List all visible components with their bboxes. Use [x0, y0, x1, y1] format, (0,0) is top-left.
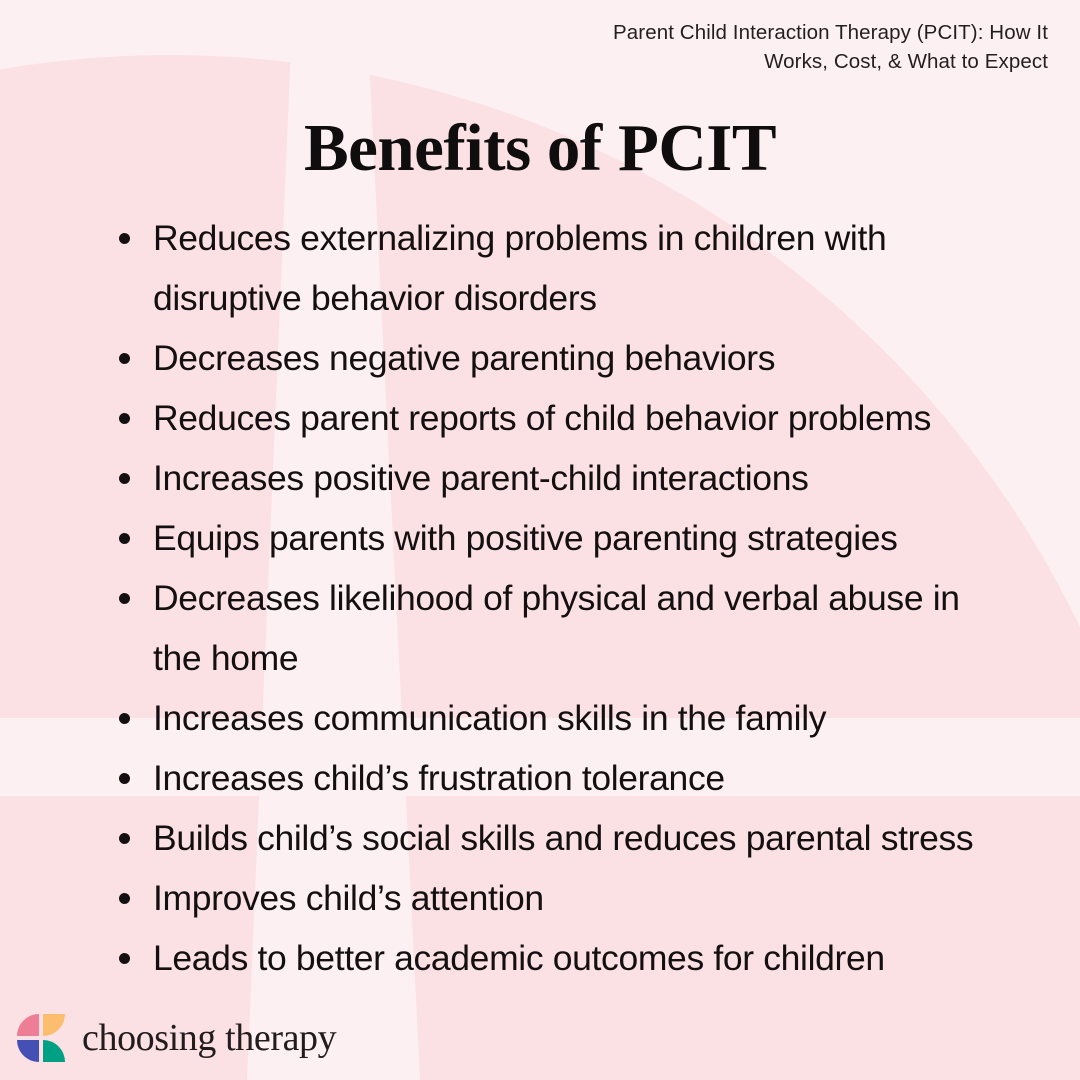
- logo-quadrant-top-left: [17, 1014, 39, 1036]
- list-item: Improves child’s attention: [112, 868, 992, 928]
- list-item: Reduces parent reports of child behavior…: [112, 388, 992, 448]
- list-item-label: Leads to better academic outcomes for ch…: [153, 928, 992, 988]
- list-item: Decreases likelihood of physical and ver…: [112, 568, 992, 688]
- list-item-label: Equips parents with positive parenting s…: [153, 508, 992, 568]
- article-title-line-2: Works, Cost, & What to Expect: [578, 47, 1048, 76]
- list-item-label: Increases positive parent-child interact…: [153, 448, 992, 508]
- list-item-label: Increases child’s frustration tolerance: [153, 748, 992, 808]
- list-item: Builds child’s social skills and reduces…: [112, 808, 992, 868]
- logo-quadrant-bottom-left: [17, 1040, 39, 1062]
- list-item: Reduces externalizing problems in childr…: [112, 208, 992, 328]
- list-item-label: Builds child’s social skills and reduces…: [153, 808, 992, 868]
- bullet-icon: [119, 533, 130, 544]
- list-item-label: Decreases likelihood of physical and ver…: [153, 568, 992, 688]
- list-item: Decreases negative parenting behaviors: [112, 328, 992, 388]
- brand-logo: choosing therapy: [16, 1010, 336, 1066]
- bullet-icon: [119, 953, 130, 964]
- list-item: Equips parents with positive parenting s…: [112, 508, 992, 568]
- article-title: Parent Child Interaction Therapy (PCIT):…: [578, 18, 1048, 76]
- list-item-label: Reduces parent reports of child behavior…: [153, 388, 992, 448]
- list-item: Increases child’s frustration tolerance: [112, 748, 992, 808]
- article-title-line-1: Parent Child Interaction Therapy (PCIT):…: [578, 18, 1048, 47]
- bullet-icon: [119, 593, 130, 604]
- logo-quadrant-top-right: [43, 1014, 65, 1036]
- bullet-icon: [119, 413, 130, 424]
- list-item-label: Decreases negative parenting behaviors: [153, 328, 992, 388]
- infographic-canvas: Parent Child Interaction Therapy (PCIT):…: [0, 0, 1080, 1080]
- benefits-list: Reduces externalizing problems in childr…: [112, 208, 992, 988]
- list-item: Leads to better academic outcomes for ch…: [112, 928, 992, 988]
- list-item: Increases communication skills in the fa…: [112, 688, 992, 748]
- bullet-icon: [119, 893, 130, 904]
- brand-wordmark: choosing therapy: [82, 1019, 336, 1057]
- list-item-label: Reduces externalizing problems in childr…: [153, 208, 992, 328]
- page-title: Benefits of PCIT: [0, 108, 1080, 188]
- choosing-therapy-logo-icon: [16, 1012, 66, 1064]
- list-item-label: Improves child’s attention: [153, 868, 992, 928]
- list-item: Increases positive parent-child interact…: [112, 448, 992, 508]
- bullet-icon: [119, 233, 130, 244]
- bullet-icon: [119, 773, 130, 784]
- bullet-icon: [119, 353, 130, 364]
- logo-quadrant-bottom-right: [43, 1040, 65, 1062]
- bullet-icon: [119, 473, 130, 484]
- bullet-icon: [119, 713, 130, 724]
- bullet-icon: [119, 833, 130, 844]
- list-item-label: Increases communication skills in the fa…: [153, 688, 992, 748]
